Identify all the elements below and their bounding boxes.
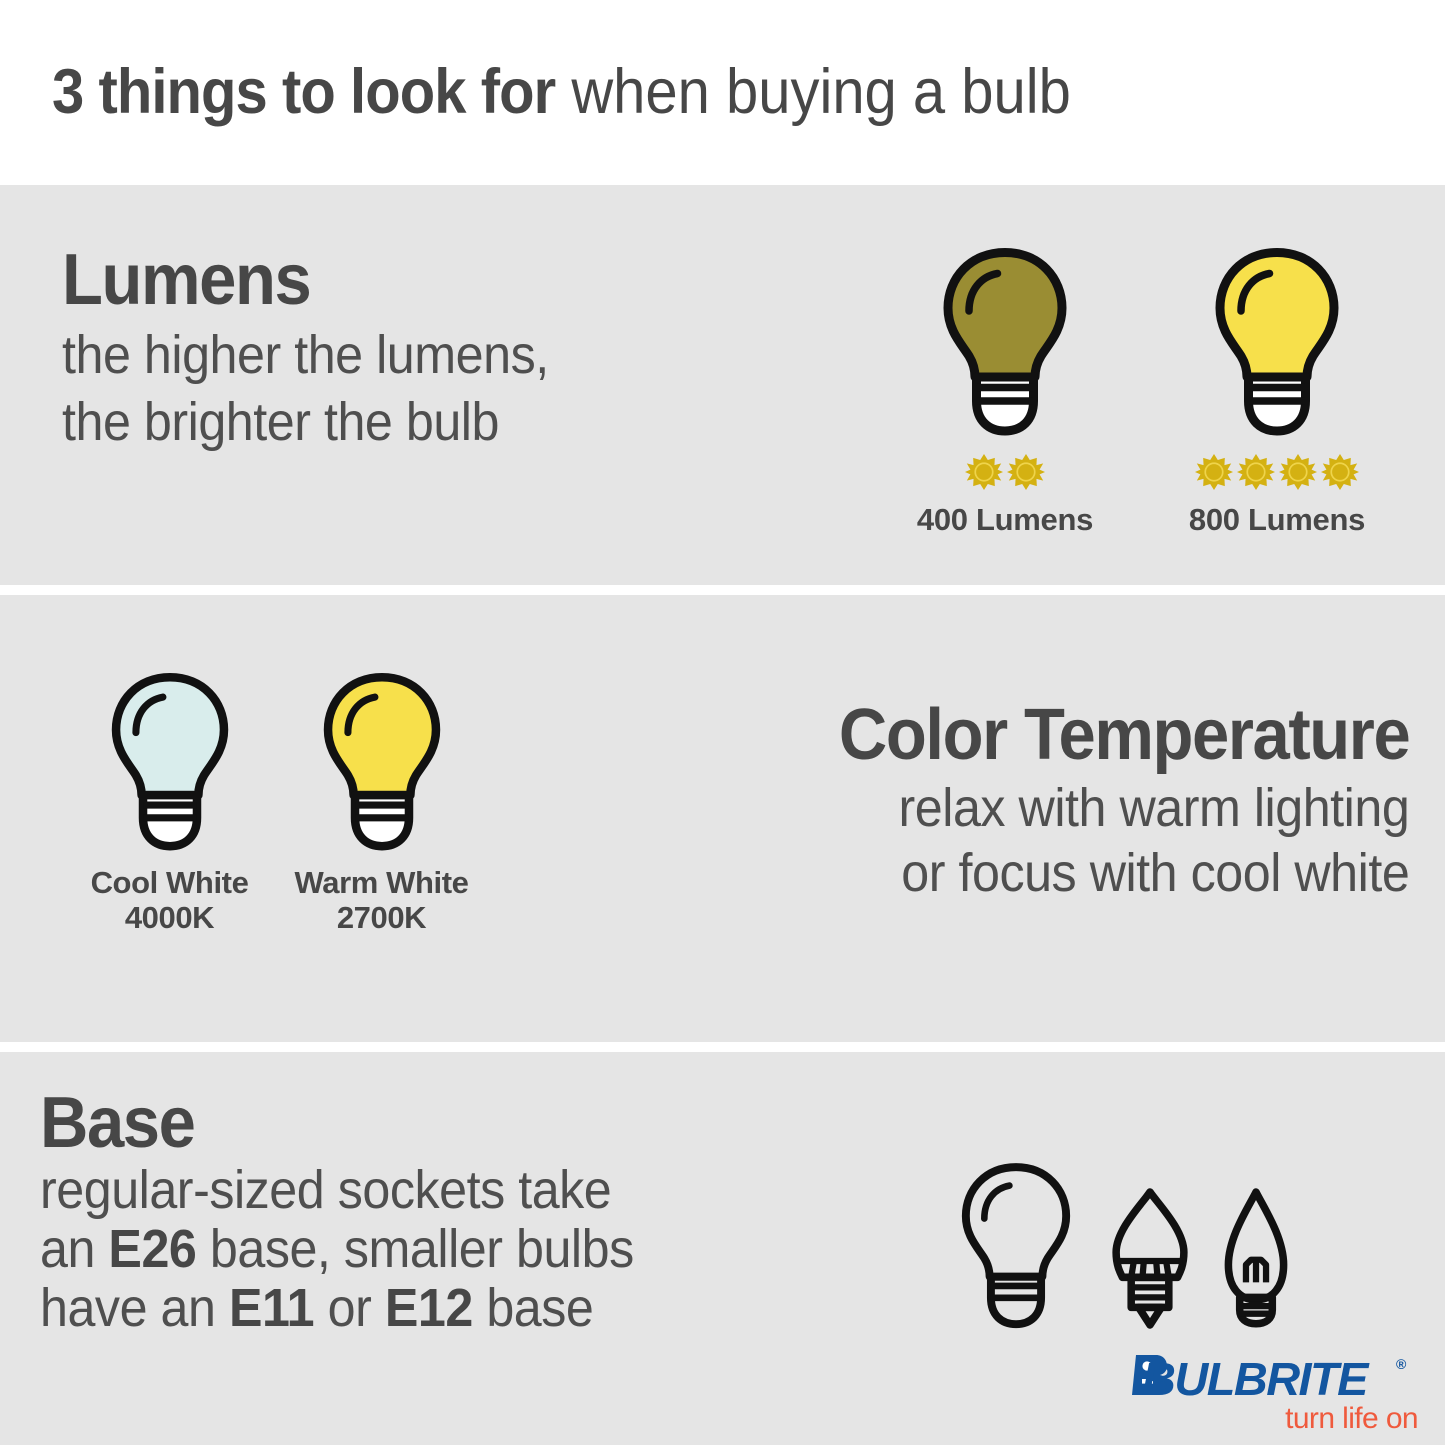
base-body-line3-suffix: base [473, 1278, 594, 1338]
color-temp-item-warm-white: Warm White 2700K [284, 670, 479, 936]
logo-wordmark: BULBRITE [1142, 1352, 1367, 1406]
bulb-outline-a19-icon [950, 1160, 1082, 1330]
color-temp-label-warm-white-line2: 2700K [284, 900, 479, 935]
sun-icon [965, 453, 1003, 491]
base-text-block: Base regular-sized sockets take an E26 b… [40, 1088, 678, 1336]
lumens-icon-group: 400 Lumens [880, 245, 1410, 555]
logo-tagline: turn life on [1285, 1402, 1418, 1436]
brand-logo[interactable]: BULBRITE ® turn life on [1130, 1352, 1420, 1438]
bulb-outline-led-candle-icon [1106, 1187, 1194, 1330]
bulb-outline-flame-tip-icon [1218, 1187, 1294, 1330]
color-temperature-icon-group: Cool White 4000K Warm White 2700K [72, 670, 492, 970]
lumens-sun-rating-800 [1152, 448, 1402, 496]
page-title-light: when buying a bulb [555, 57, 1071, 127]
lumens-sun-rating-400 [880, 448, 1130, 496]
logo-registered-mark: ® [1396, 1356, 1406, 1372]
color-temperature-title: Color Temperature [839, 700, 1409, 771]
color-temperature-subtitle-line2: or focus with cool white [839, 846, 1409, 901]
lumens-subtitle-line1: the higher the lumens, [62, 328, 549, 383]
lumens-item-800: 800 Lumens [1152, 245, 1402, 538]
color-temp-label-cool-white-line1: Cool White [72, 865, 267, 900]
lumens-title: Lumens [62, 245, 549, 316]
page-header: 3 things to look for when buying a bulb [0, 0, 1445, 185]
lumens-subtitle-line2: the brighter the bulb [62, 395, 549, 450]
lumens-label-800: 800 Lumens [1152, 502, 1402, 538]
sun-icon [1237, 453, 1275, 491]
page-title: 3 things to look for when buying a bulb [52, 61, 1071, 124]
lumens-label-400: 400 Lumens [880, 502, 1130, 538]
base-body-line1: regular-sized sockets take [40, 1163, 634, 1218]
sun-icon [1279, 453, 1317, 491]
lumens-item-400: 400 Lumens [880, 245, 1130, 538]
color-temp-label-warm-white-line1: Warm White [284, 865, 479, 900]
lightbulb-icon [311, 670, 453, 852]
sun-icon [1321, 453, 1359, 491]
lightbulb-icon [1202, 245, 1352, 437]
base-body-line3-prefix: have an [40, 1278, 229, 1338]
lightbulb-icon [99, 670, 241, 852]
lumens-text-block: Lumens the higher the lumens, the bright… [62, 245, 585, 450]
lightbulb-icon [930, 245, 1080, 437]
base-body-line2-suffix: base, smaller bulbs [196, 1219, 633, 1279]
color-temp-item-cool-white: Cool White 4000K [72, 670, 267, 936]
base-code-e12: E12 [385, 1278, 473, 1338]
base-code-e11: E11 [229, 1278, 314, 1338]
infographic-page: 3 things to look for when buying a bulb … [0, 0, 1445, 1445]
color-temp-label-cool-white-line2: 4000K [72, 900, 267, 935]
sun-icon [1195, 453, 1233, 491]
base-code-e26: E26 [108, 1219, 196, 1279]
base-icon-group [950, 1115, 1320, 1330]
color-temperature-subtitle-line1: relax with warm lighting [839, 781, 1409, 836]
base-body-line3: have an E11 or E12 base [40, 1281, 634, 1336]
color-temperature-text-block: Color Temperature relax with warm lighti… [796, 700, 1409, 901]
page-title-strong: 3 things to look for [52, 57, 555, 127]
base-body-line2: an E26 base, smaller bulbs [40, 1222, 634, 1277]
base-body-line1-text: regular-sized sockets take [40, 1160, 611, 1220]
sun-icon [1007, 453, 1045, 491]
base-body-line3-or: or [314, 1278, 385, 1338]
base-body-line2-prefix: an [40, 1219, 108, 1279]
base-title: Base [40, 1088, 634, 1159]
